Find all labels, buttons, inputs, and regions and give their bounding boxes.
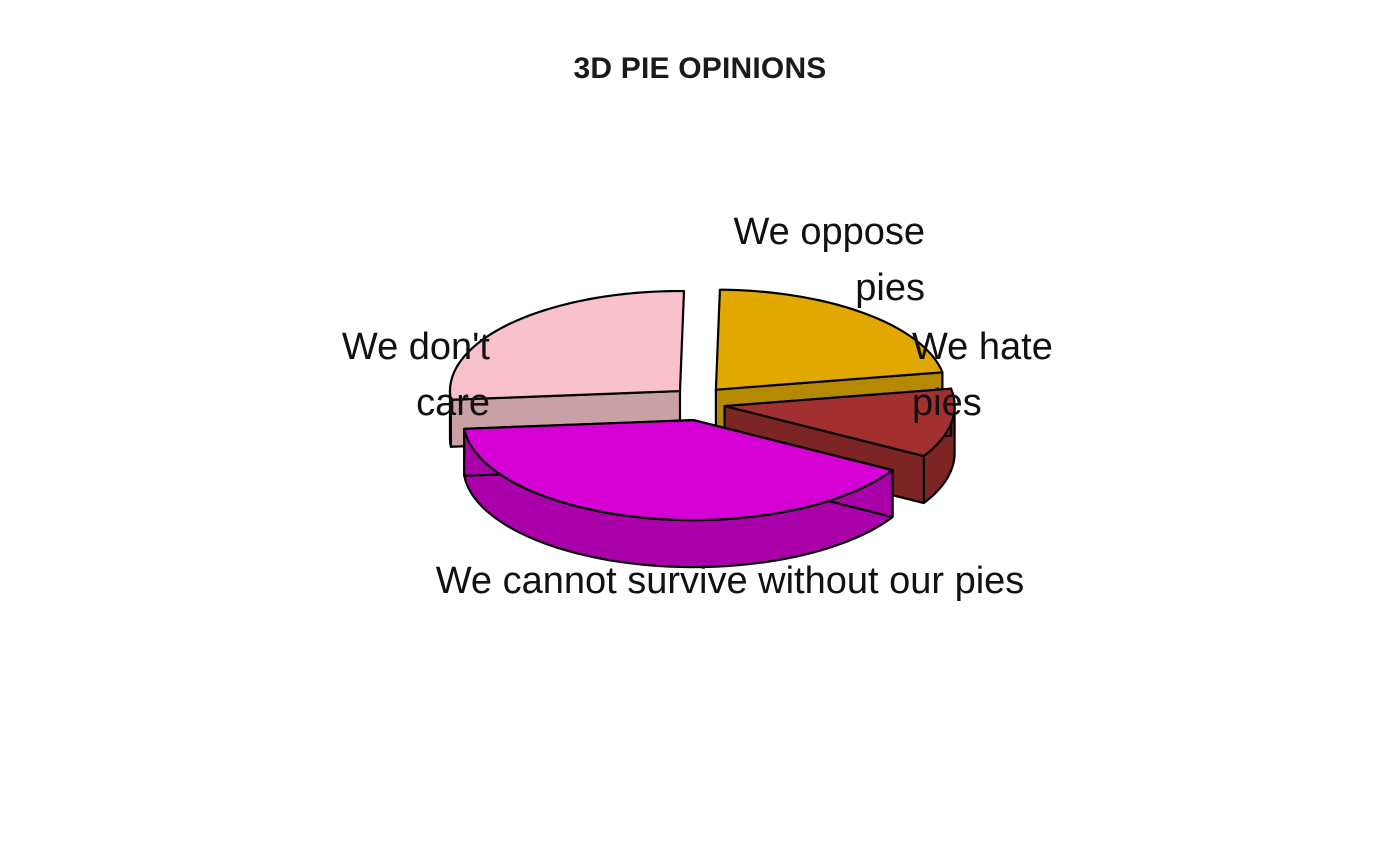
- slice-label-we-oppose-pies: We oppose pies: [555, 204, 925, 316]
- pie-3d-graphic: [0, 0, 1400, 866]
- slice-label-we-cannot-survive-without-our-pies: We cannot survive without our pies: [230, 553, 1230, 609]
- pie-chart-figure: 3D PIE OPINIONS We oppose pies We hate p…: [0, 0, 1400, 866]
- slice-label-we-hate-pies: We hate pies: [912, 319, 1232, 431]
- slice-label-we-dont-care: We don't care: [150, 319, 490, 431]
